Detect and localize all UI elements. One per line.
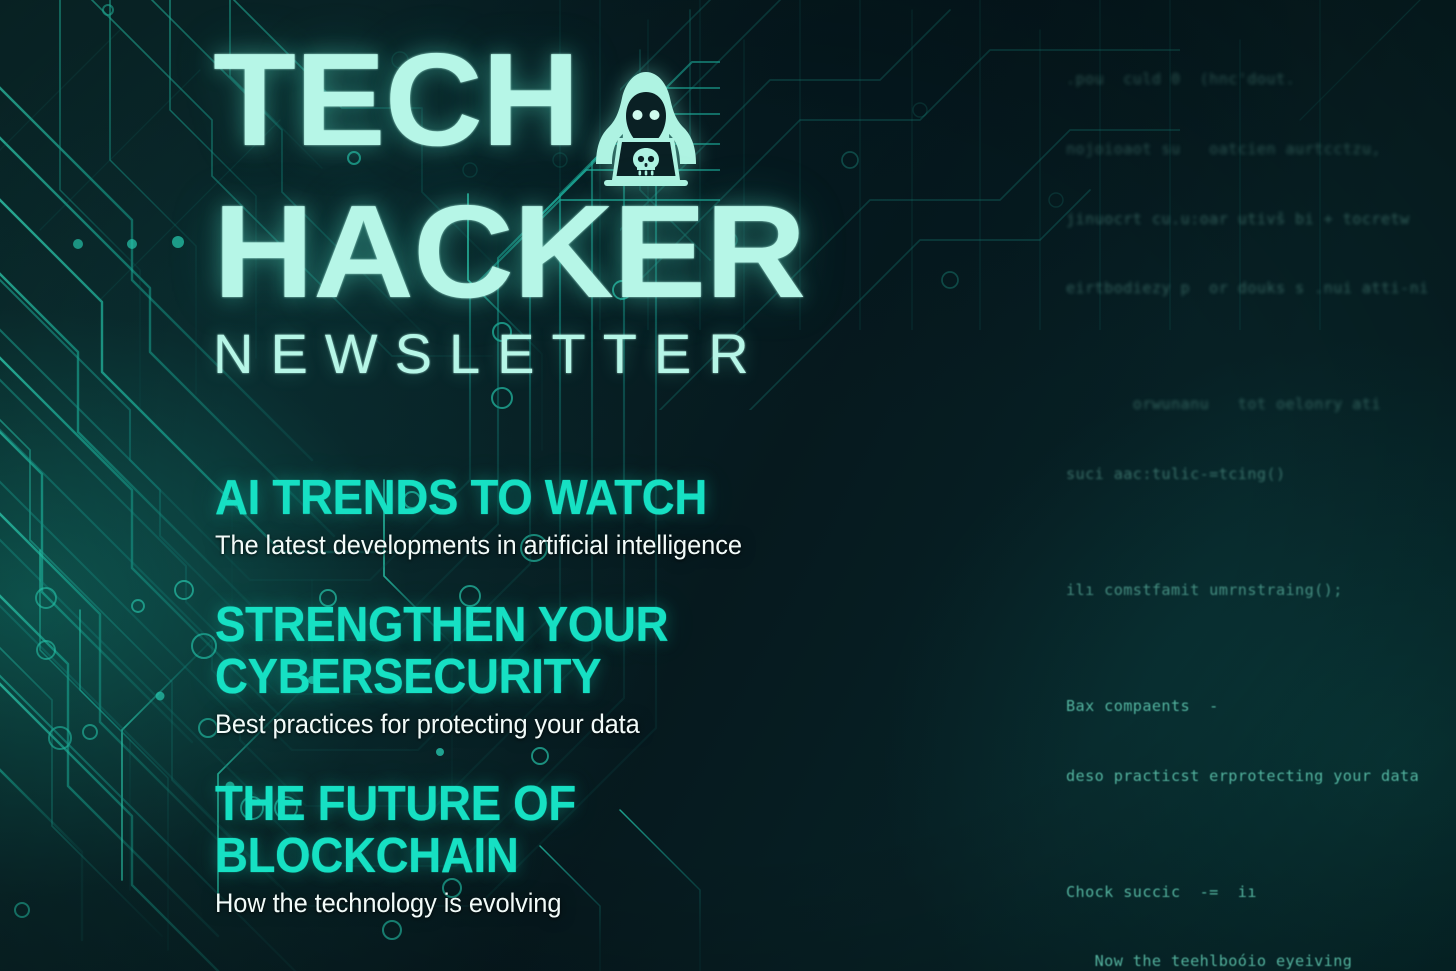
article-item-ai-trends[interactable]: AI TRENDS TO WATCH The latest developmen… bbox=[215, 472, 915, 561]
masthead-line-hacker: HACKER bbox=[213, 194, 805, 310]
code-line: eirtbodiezy p or douks s .nui atti-ni bbox=[1066, 277, 1456, 300]
masthead: TECH bbox=[213, 42, 772, 384]
article-deck: Best practices for protecting your data bbox=[215, 708, 887, 740]
masthead-subtitle: NEWSLETTER bbox=[213, 324, 772, 384]
code-line: Bax compaents - bbox=[1066, 695, 1456, 718]
newsletter-cover: .pou culd 0 (hnc'dout. nojoioaot su oatc… bbox=[0, 0, 1456, 971]
code-line: Now the teehlboóio eyeiving bbox=[1066, 950, 1456, 971]
code-line: .pou culd 0 (hnc'dout. bbox=[1066, 68, 1456, 91]
code-line: suci aac:tulic-=tcing() bbox=[1066, 463, 1456, 486]
article-deck: How the technology is evolving bbox=[215, 887, 887, 919]
article-list: AI TRENDS TO WATCH The latest developmen… bbox=[215, 472, 915, 919]
code-line: Chock succic -= iı bbox=[1066, 881, 1456, 904]
code-line: deso practicst erprotecting your data bbox=[1066, 765, 1456, 788]
code-overlay: .pou culd 0 (hnc'dout. nojoioaot su oatc… bbox=[1066, 22, 1456, 971]
code-line: ilı comstfamit umrnstraing(); bbox=[1066, 579, 1456, 602]
article-headline: STRENGTHEN YOUR bbox=[215, 599, 866, 651]
hooded-hacker-with-laptop-icon bbox=[590, 68, 702, 186]
article-deck: The latest developments in artificial in… bbox=[215, 529, 887, 561]
article-headline: THE FUTURE OF BLOCKCHAIN bbox=[215, 778, 866, 882]
article-headline: AI TRENDS TO WATCH bbox=[215, 472, 866, 524]
masthead-title-row: TECH bbox=[213, 42, 772, 186]
article-headline-line2: CYBERSECURITY bbox=[215, 651, 866, 703]
masthead-line-tech: TECH bbox=[213, 42, 579, 158]
code-line: nojoioaot su oatcien aurtcctzu, bbox=[1066, 138, 1456, 161]
code-line: jinuocrt cu.u:oar utivš bi + tocretw bbox=[1066, 208, 1456, 231]
code-line: orwunanu tot oelonry ati bbox=[1066, 393, 1456, 416]
article-item-blockchain[interactable]: THE FUTURE OF BLOCKCHAIN How the technol… bbox=[215, 778, 915, 919]
article-item-cybersecurity[interactable]: STRENGTHEN YOUR CYBERSECURITY Best pract… bbox=[215, 599, 915, 740]
